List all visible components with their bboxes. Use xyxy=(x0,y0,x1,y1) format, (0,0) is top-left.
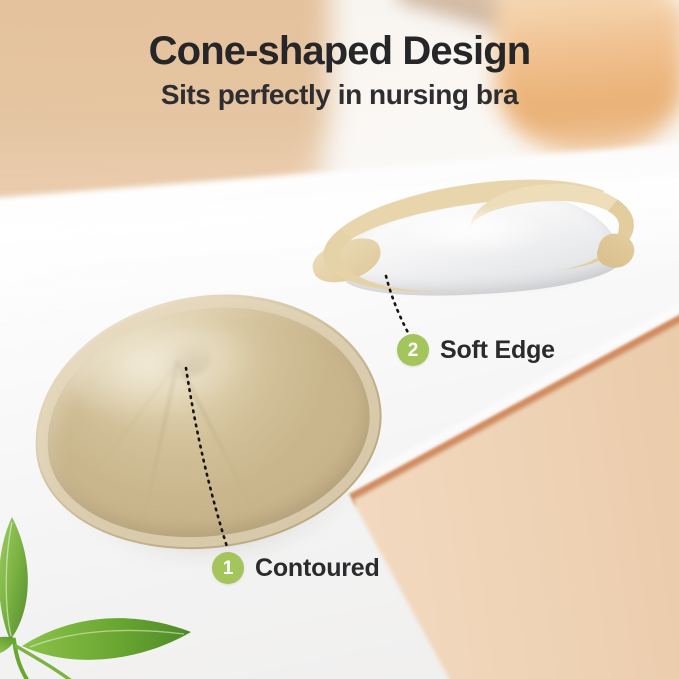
callout-contoured[interactable]: 1 Contoured xyxy=(212,552,380,584)
bamboo-leaves-icon xyxy=(0,506,204,679)
page-title: Cone-shaped Design xyxy=(0,30,679,73)
callout-badge-2: 2 xyxy=(397,334,429,366)
pad-side-sheen xyxy=(402,212,552,256)
product-infographic: 1 Contoured 2 Soft Edge Cone-shaped Desi… xyxy=(0,0,679,679)
page-subtitle: Sits perfectly in nursing bra xyxy=(0,79,679,110)
callout-label-contoured: Contoured xyxy=(255,554,380,583)
heading-block: Cone-shaped Design Sits perfectly in nur… xyxy=(0,30,679,111)
callout-label-soft-edge: Soft Edge xyxy=(440,336,555,365)
callout-soft-edge[interactable]: 2 Soft Edge xyxy=(397,334,555,366)
callout-badge-1: 1 xyxy=(212,552,244,584)
